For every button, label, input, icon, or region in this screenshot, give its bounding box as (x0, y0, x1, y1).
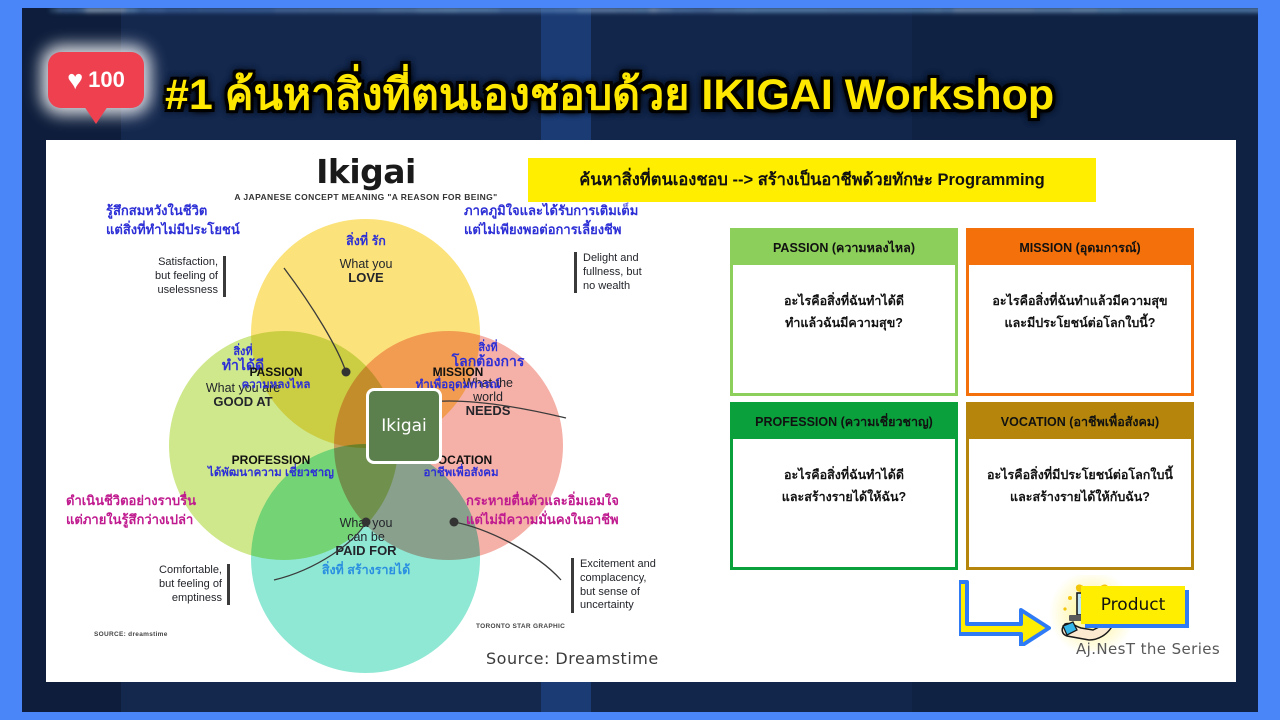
quadrant-profession-body: อะไรคือสิ่งที่ฉันทำได้ดี และสร้างรายได้ใ… (733, 439, 955, 567)
quadrant-profession-header: PROFESSION (ความเชี่ยวชาญ) (733, 405, 955, 439)
thai-note-top-left-1: รู้สึกสมหวังในชีวิต (106, 202, 326, 221)
quadrant-mission-line-1: อะไรคือสิ่งที่ฉันทำแล้วมีความสุข (992, 291, 1167, 313)
quadrant-passion[interactable]: PASSION (ความหลงไหล) อะไรคือสิ่งที่ฉันทำ… (730, 228, 958, 396)
thai-note-top-left: รู้สึกสมหวังในชีวิต แต่สิ่งที่ทำไม่มีประ… (106, 202, 326, 240)
callout-bottom-right-3: but sense of (580, 586, 687, 600)
quadrant-vocation-line-1: อะไรคือสิ่งที่มีประโยชน์ต่อโลกใบนี้ (987, 465, 1173, 487)
thai-note-top-right: ภาคภูมิใจและได้รับการเติมเต็ม แต่ไม่เพีย… (464, 202, 704, 240)
thai-note-bottom-left-2: แต่ภายในรู้สึกว่างเปล่า (66, 511, 296, 530)
callout-bottom-right-1: Excitement and (580, 558, 687, 572)
quadrant-profession-line-1: อะไรคือสิ่งที่ฉันทำได้ดี (784, 465, 904, 487)
quadrant-mission-body: อะไรคือสิ่งที่ฉันทำแล้วมีความสุข และมีปร… (969, 265, 1191, 393)
callout-top-left-1: Satisfaction, (116, 256, 218, 270)
quadrant-profession[interactable]: PROFESSION (ความเชี่ยวชาญ) อะไรคือสิ่งที… (730, 402, 958, 570)
callout-top-left-3: uselessness (116, 284, 218, 298)
thai-note-top-right-2: แต่ไม่เพียงพอต่อการเลี้ยงชีพ (464, 221, 704, 240)
callout-bar (227, 564, 230, 605)
callout-bottom-right-4: uncertainty (580, 599, 687, 613)
quadrant-mission[interactable]: MISSION (อุดมการณ์) อะไรคือสิ่งที่ฉันทำแ… (966, 228, 1194, 396)
quadrant-passion-line-2: ทำแล้วฉันมีความสุข? (785, 313, 903, 335)
signature: Aj.NesT the Series (1076, 640, 1220, 658)
callout-bottom-left-1: Comfortable, (118, 564, 222, 578)
callout-bottom-right: Excitement and complacency, but sense of… (571, 558, 687, 613)
content-card: ค้นหาสิ่งที่ตนเองชอบ --> สร้างเป็นอาชีพด… (46, 140, 1236, 682)
circle-what-you-can-be-paid-for (248, 441, 483, 676)
callout-top-left-2: but feeling of (116, 270, 218, 284)
thai-note-top-left-2: แต่สิ่งที่ทำไม่มีประโยชน์ (106, 221, 326, 240)
quadrant-passion-body: อะไรคือสิ่งที่ฉันทำได้ดี ทำแล้วฉันมีความ… (733, 265, 955, 393)
callout-bottom-left-2: but feeling of (118, 578, 222, 592)
callout-top-left: Satisfaction, but feeling of uselessness (116, 256, 226, 297)
callout-top-right: Delight and fullness, but no wealth (574, 252, 686, 293)
page-title: #1 ค้นหาสิ่งที่ตนเองชอบด้วย IKIGAI Works… (165, 64, 1245, 126)
callout-bottom-left: Comfortable, but feeling of emptiness (118, 564, 230, 605)
callout-bar (574, 252, 577, 293)
source-handwritten: Source: Dreamstime (486, 649, 659, 668)
thai-note-bottom-right-2: แต่ไม่มีความมั่นคงในอาชีพ (466, 511, 706, 530)
source-left: SOURCE: dreamstime (94, 631, 168, 638)
callout-top-right-1: Delight and (583, 252, 686, 266)
product-badge[interactable]: Product (1081, 586, 1185, 624)
thai-note-bottom-left-1: ดำเนินชีวิตอย่างราบรื่น (66, 492, 296, 511)
quadrant-mission-line-2: และมีประโยชน์ต่อโลกใบนี้? (1005, 313, 1156, 335)
ikigai-title: Ikigai (46, 152, 686, 191)
quadrant-vocation-header: VOCATION (อาชีพเพื่อสังคม) (969, 405, 1191, 439)
quadrant-vocation-line-2: และสร้างรายได้ให้กับฉัน? (1010, 487, 1150, 509)
thai-note-bottom-right: กระหายตื่นตัวและอิ่มเอมใจ แต่ไม่มีความมั… (466, 492, 706, 530)
quadrant-profession-line-2: และสร้างรายได้ให้ฉัน? (782, 487, 906, 509)
like-count: 100 (88, 67, 125, 93)
ikigai-diagram: Ikigai A JAPANESE CONCEPT MEANING "A REA… (46, 140, 686, 682)
callout-bottom-left-3: emptiness (118, 592, 222, 606)
quadrant-mission-header: MISSION (อุดมการณ์) (969, 231, 1191, 265)
arrow-right-icon (959, 578, 1055, 646)
badge-tail (84, 106, 108, 124)
ikigai-core-label: Ikigai (366, 388, 442, 464)
quadrant-vocation[interactable]: VOCATION (อาชีพเพื่อสังคม) อะไรคือสิ่งที… (966, 402, 1194, 570)
callout-bar (223, 256, 226, 297)
ikigai-subtitle: A JAPANESE CONCEPT MEANING "A REASON FOR… (46, 192, 686, 202)
callout-top-right-3: no wealth (583, 280, 686, 294)
thai-note-bottom-right-1: กระหายตื่นตัวและอิ่มเอมใจ (466, 492, 706, 511)
thai-note-top-right-1: ภาคภูมิใจและได้รับการเติมเต็ม (464, 202, 704, 221)
callout-bar (571, 558, 574, 613)
thai-note-bottom-left: ดำเนินชีวิตอย่างราบรื่น แต่ภายในรู้สึกว่… (66, 492, 296, 530)
quadrant-passion-line-1: อะไรคือสิ่งที่ฉันทำได้ดี (784, 291, 904, 313)
quadrant-passion-header: PASSION (ความหลงไหล) (733, 231, 955, 265)
callout-top-right-2: fullness, but (583, 266, 686, 280)
callout-bottom-right-2: complacency, (580, 572, 687, 586)
quadrant-vocation-body: อะไรคือสิ่งที่มีประโยชน์ต่อโลกใบนี้ และส… (969, 439, 1191, 567)
source-right: TORONTO STAR GRAPHIC (476, 623, 565, 630)
like-badge: ♥ 100 (48, 52, 144, 108)
heart-icon: ♥ (67, 67, 83, 94)
